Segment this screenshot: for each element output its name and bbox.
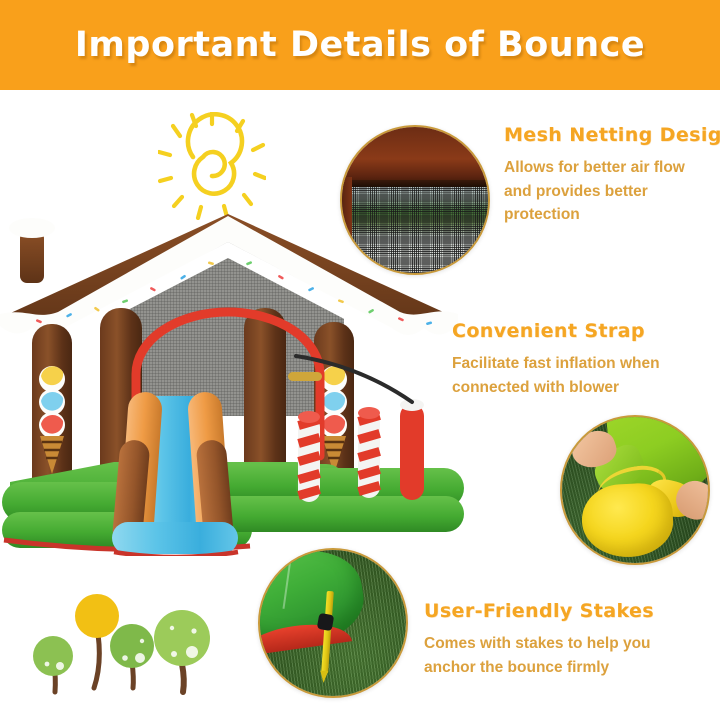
mesh-netting-photo [340,125,490,275]
tree-large [154,610,210,692]
feature-body-mesh-netting: Allows for better air flow and provides … [504,156,720,227]
user-friendly-stakes-photo [258,548,408,698]
page-title: Important Details of Bounce [0,25,720,65]
feature-heading-user-friendly-stakes: User-Friendly Stakes [424,600,720,622]
tree-small [33,636,73,692]
feature-heading-convenient-strap: Convenient Strap [452,320,720,342]
feature-body-line: Facilitate fast inflation when [452,352,720,376]
feature-body-line: connected with blower [452,376,720,400]
header-banner: Important Details of Bounce [0,0,720,90]
feature-convenient-strap: Convenient Strap Facilitate fast inflati… [452,320,720,399]
trees-doodle [22,588,218,700]
feature-body-line: anchor the bounce firmly [424,656,720,680]
feature-body-line: Allows for better air flow [504,156,720,180]
tree-medium [110,624,154,688]
feature-body-line: Comes with stakes to help you [424,632,720,656]
infographic-page: Important Details of Bounce [0,0,720,712]
feature-body-convenient-strap: Facilitate fast inflation when connected… [452,352,720,399]
feature-mesh-netting: Mesh Netting Design Allows for better ai… [504,124,720,227]
feature-body-line: protection [504,203,720,227]
convenient-strap-photo [560,415,710,565]
feature-heading-mesh-netting: Mesh Netting Design [504,124,720,146]
feature-body-user-friendly-stakes: Comes with stakes to help you anchor the… [424,632,720,679]
feature-user-friendly-stakes: User-Friendly Stakes Comes with stakes t… [424,600,720,679]
feature-body-line: and provides better [504,180,720,204]
